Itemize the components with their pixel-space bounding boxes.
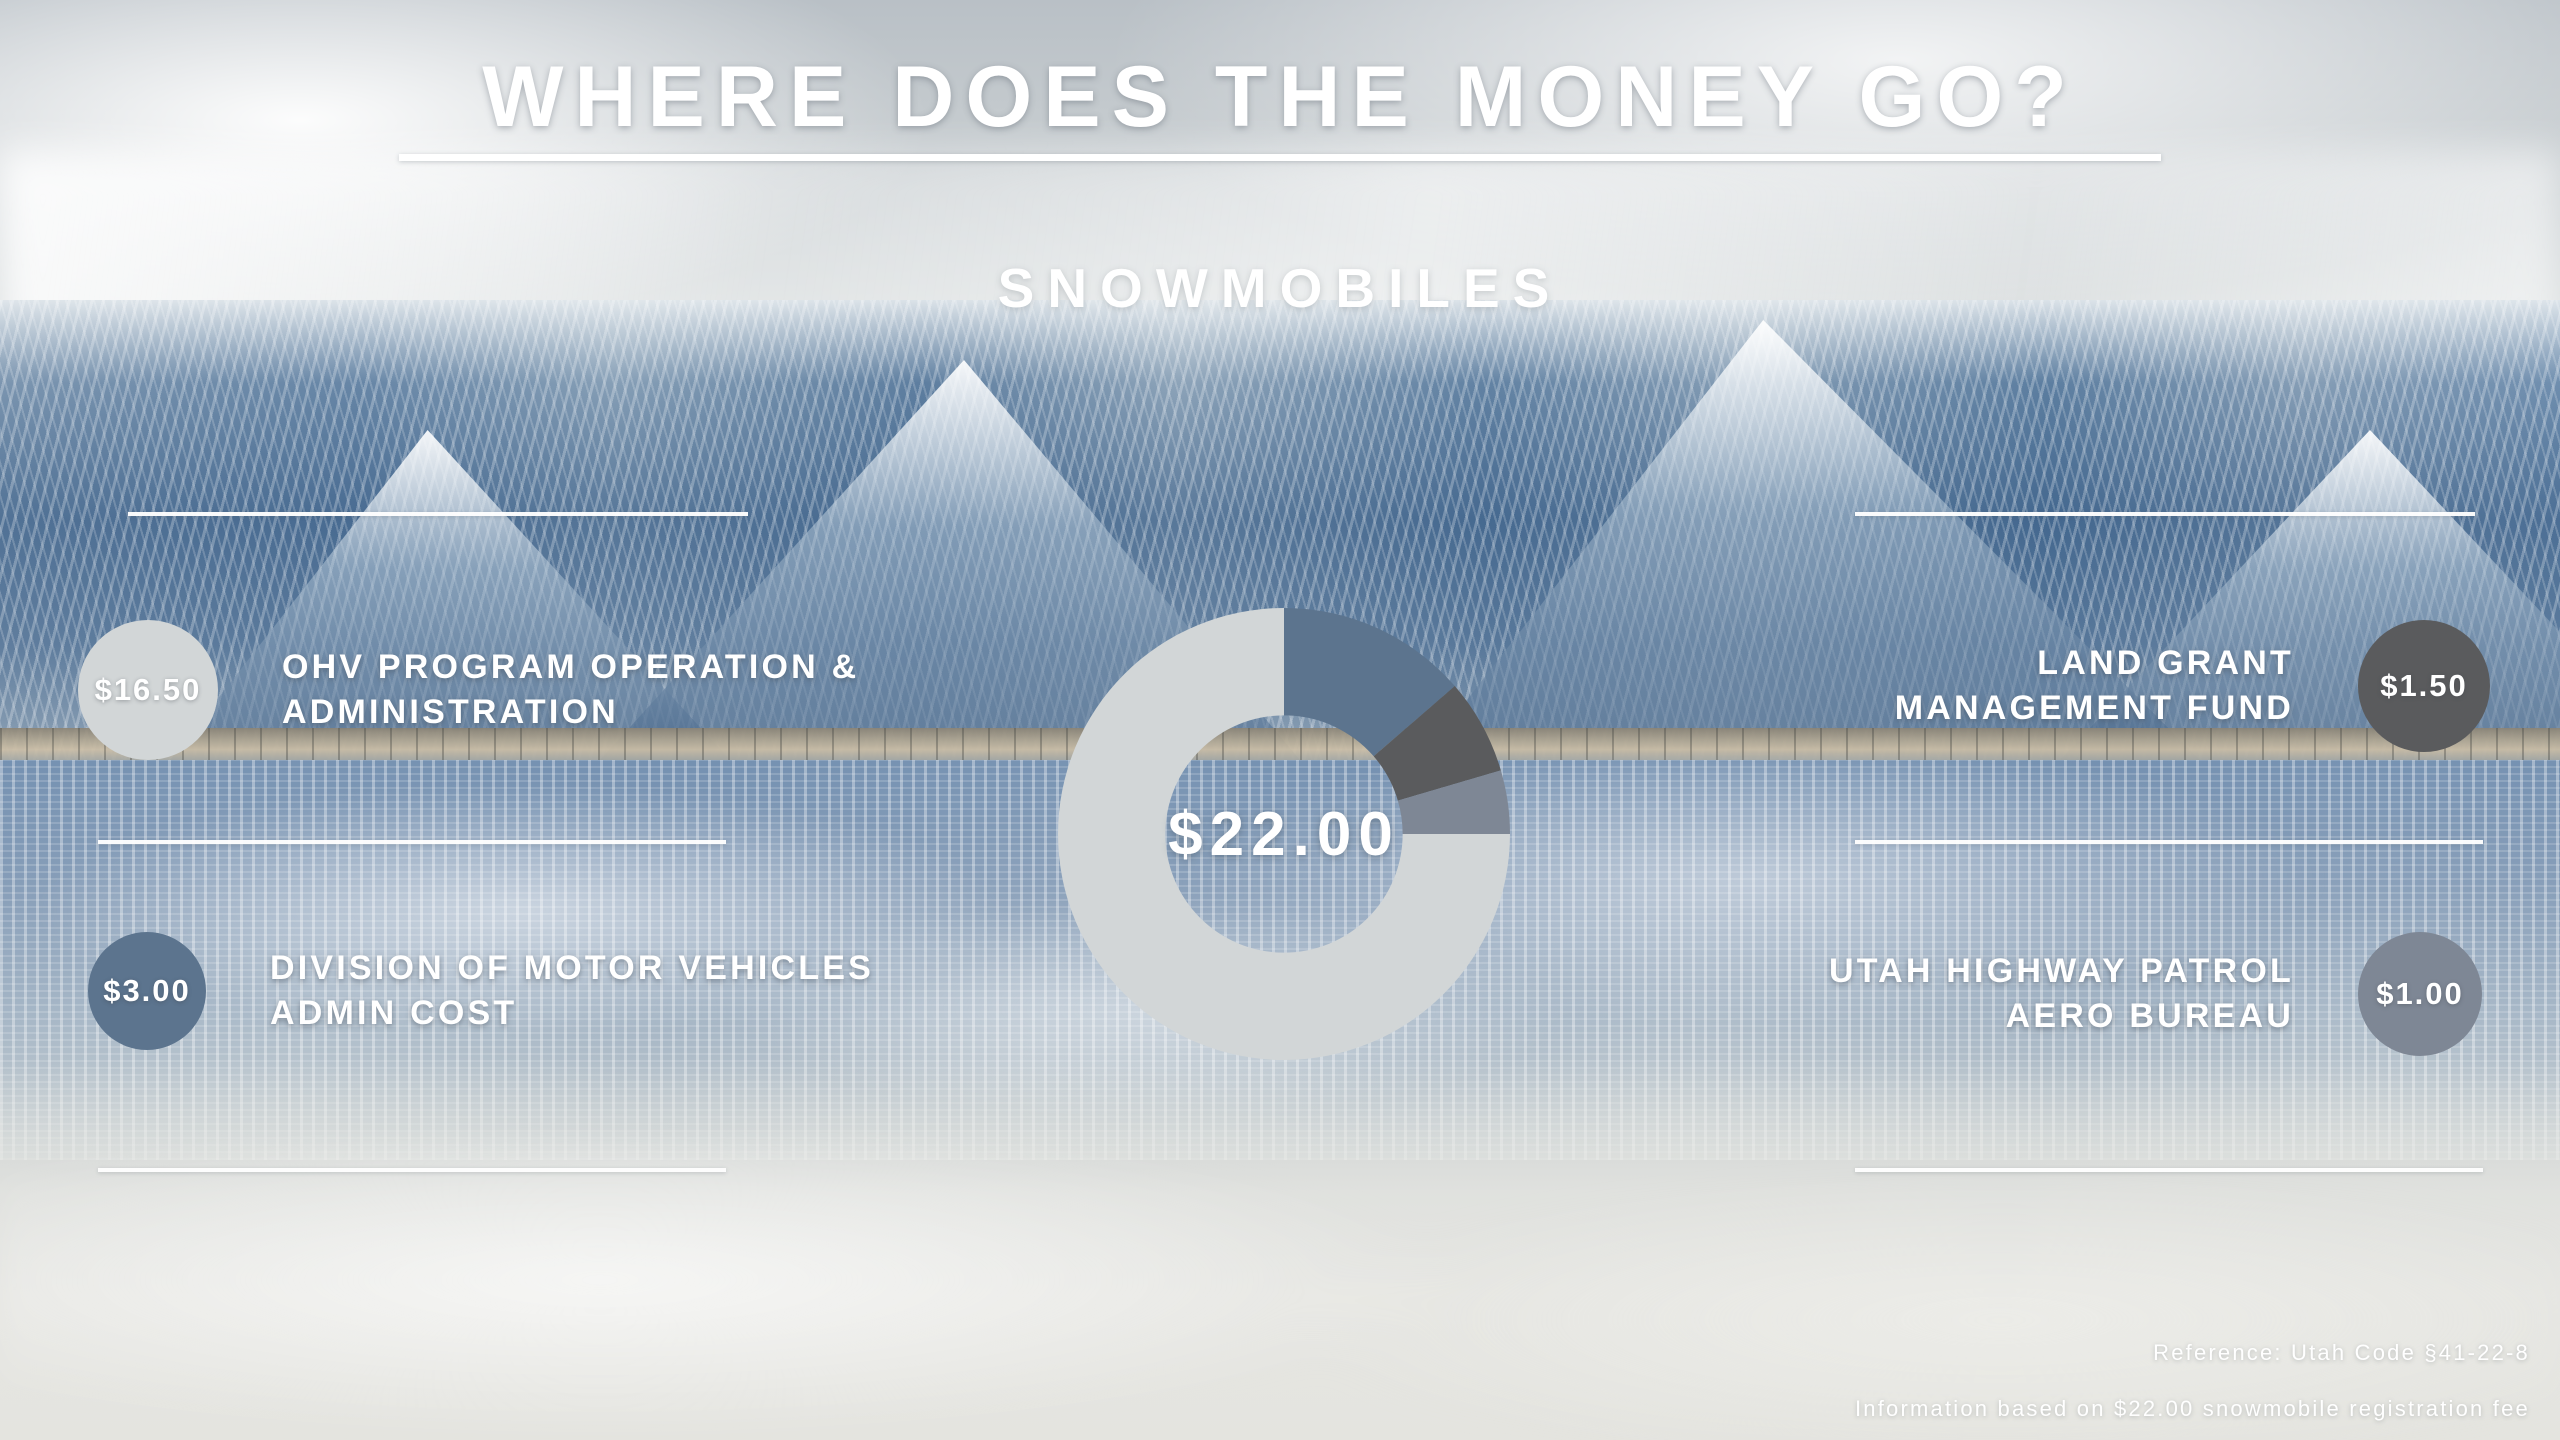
- divider-left-bottom: [98, 1168, 726, 1172]
- donut-chart: $22.00: [1058, 608, 1510, 1060]
- donut-slice-group: [1058, 608, 1510, 1060]
- divider-right-middle: [1855, 840, 2483, 844]
- legend-label-ohv-program: OHV PROGRAM OPERATION & ADMINISTRATION: [282, 645, 962, 735]
- footer-reference: Reference: Utah Code §41-22-8: [1855, 1340, 2530, 1366]
- page-title: WHERE DOES THE MONEY GO?: [0, 48, 2560, 147]
- legend-item-uhp-aero: UTAH HIGHWAY PATROL AERO BUREAU $1.00: [1714, 932, 2482, 1056]
- legend-item-dmv-admin: $3.00 DIVISION OF MOTOR VEHICLES ADMIN C…: [88, 932, 890, 1050]
- donut-chart-svg: [1058, 608, 1510, 1060]
- amount-badge-ohv-program: $16.50: [78, 620, 218, 760]
- divider-right-bottom: [1855, 1168, 2483, 1172]
- legend-label-land-grant: LAND GRANT MANAGEMENT FUND: [1814, 641, 2294, 731]
- footer: Reference: Utah Code §41-22-8 Informatio…: [1855, 1310, 2530, 1422]
- title-underline: [399, 154, 2161, 161]
- page-subtitle: SNOWMOBILES: [0, 256, 2560, 320]
- legend-label-dmv-admin: DIVISION OF MOTOR VEHICLES ADMIN COST: [270, 946, 890, 1036]
- divider-left-middle: [98, 840, 726, 844]
- divider-right-top: [1855, 512, 2475, 516]
- amount-badge-land-grant: $1.50: [2358, 620, 2490, 752]
- infographic-canvas: WHERE DOES THE MONEY GO? SNOWMOBILES $16…: [0, 0, 2560, 1440]
- legend-item-ohv-program: $16.50 OHV PROGRAM OPERATION & ADMINISTR…: [78, 620, 962, 760]
- divider-left-top: [128, 512, 748, 516]
- amount-badge-dmv-admin: $3.00: [88, 932, 206, 1050]
- footer-note: Information based on $22.00 snowmobile r…: [1855, 1396, 2530, 1422]
- legend-label-uhp-aero: UTAH HIGHWAY PATROL AERO BUREAU: [1714, 949, 2294, 1039]
- amount-badge-uhp-aero: $1.00: [2358, 932, 2482, 1056]
- legend-item-land-grant: LAND GRANT MANAGEMENT FUND $1.50: [1814, 620, 2490, 752]
